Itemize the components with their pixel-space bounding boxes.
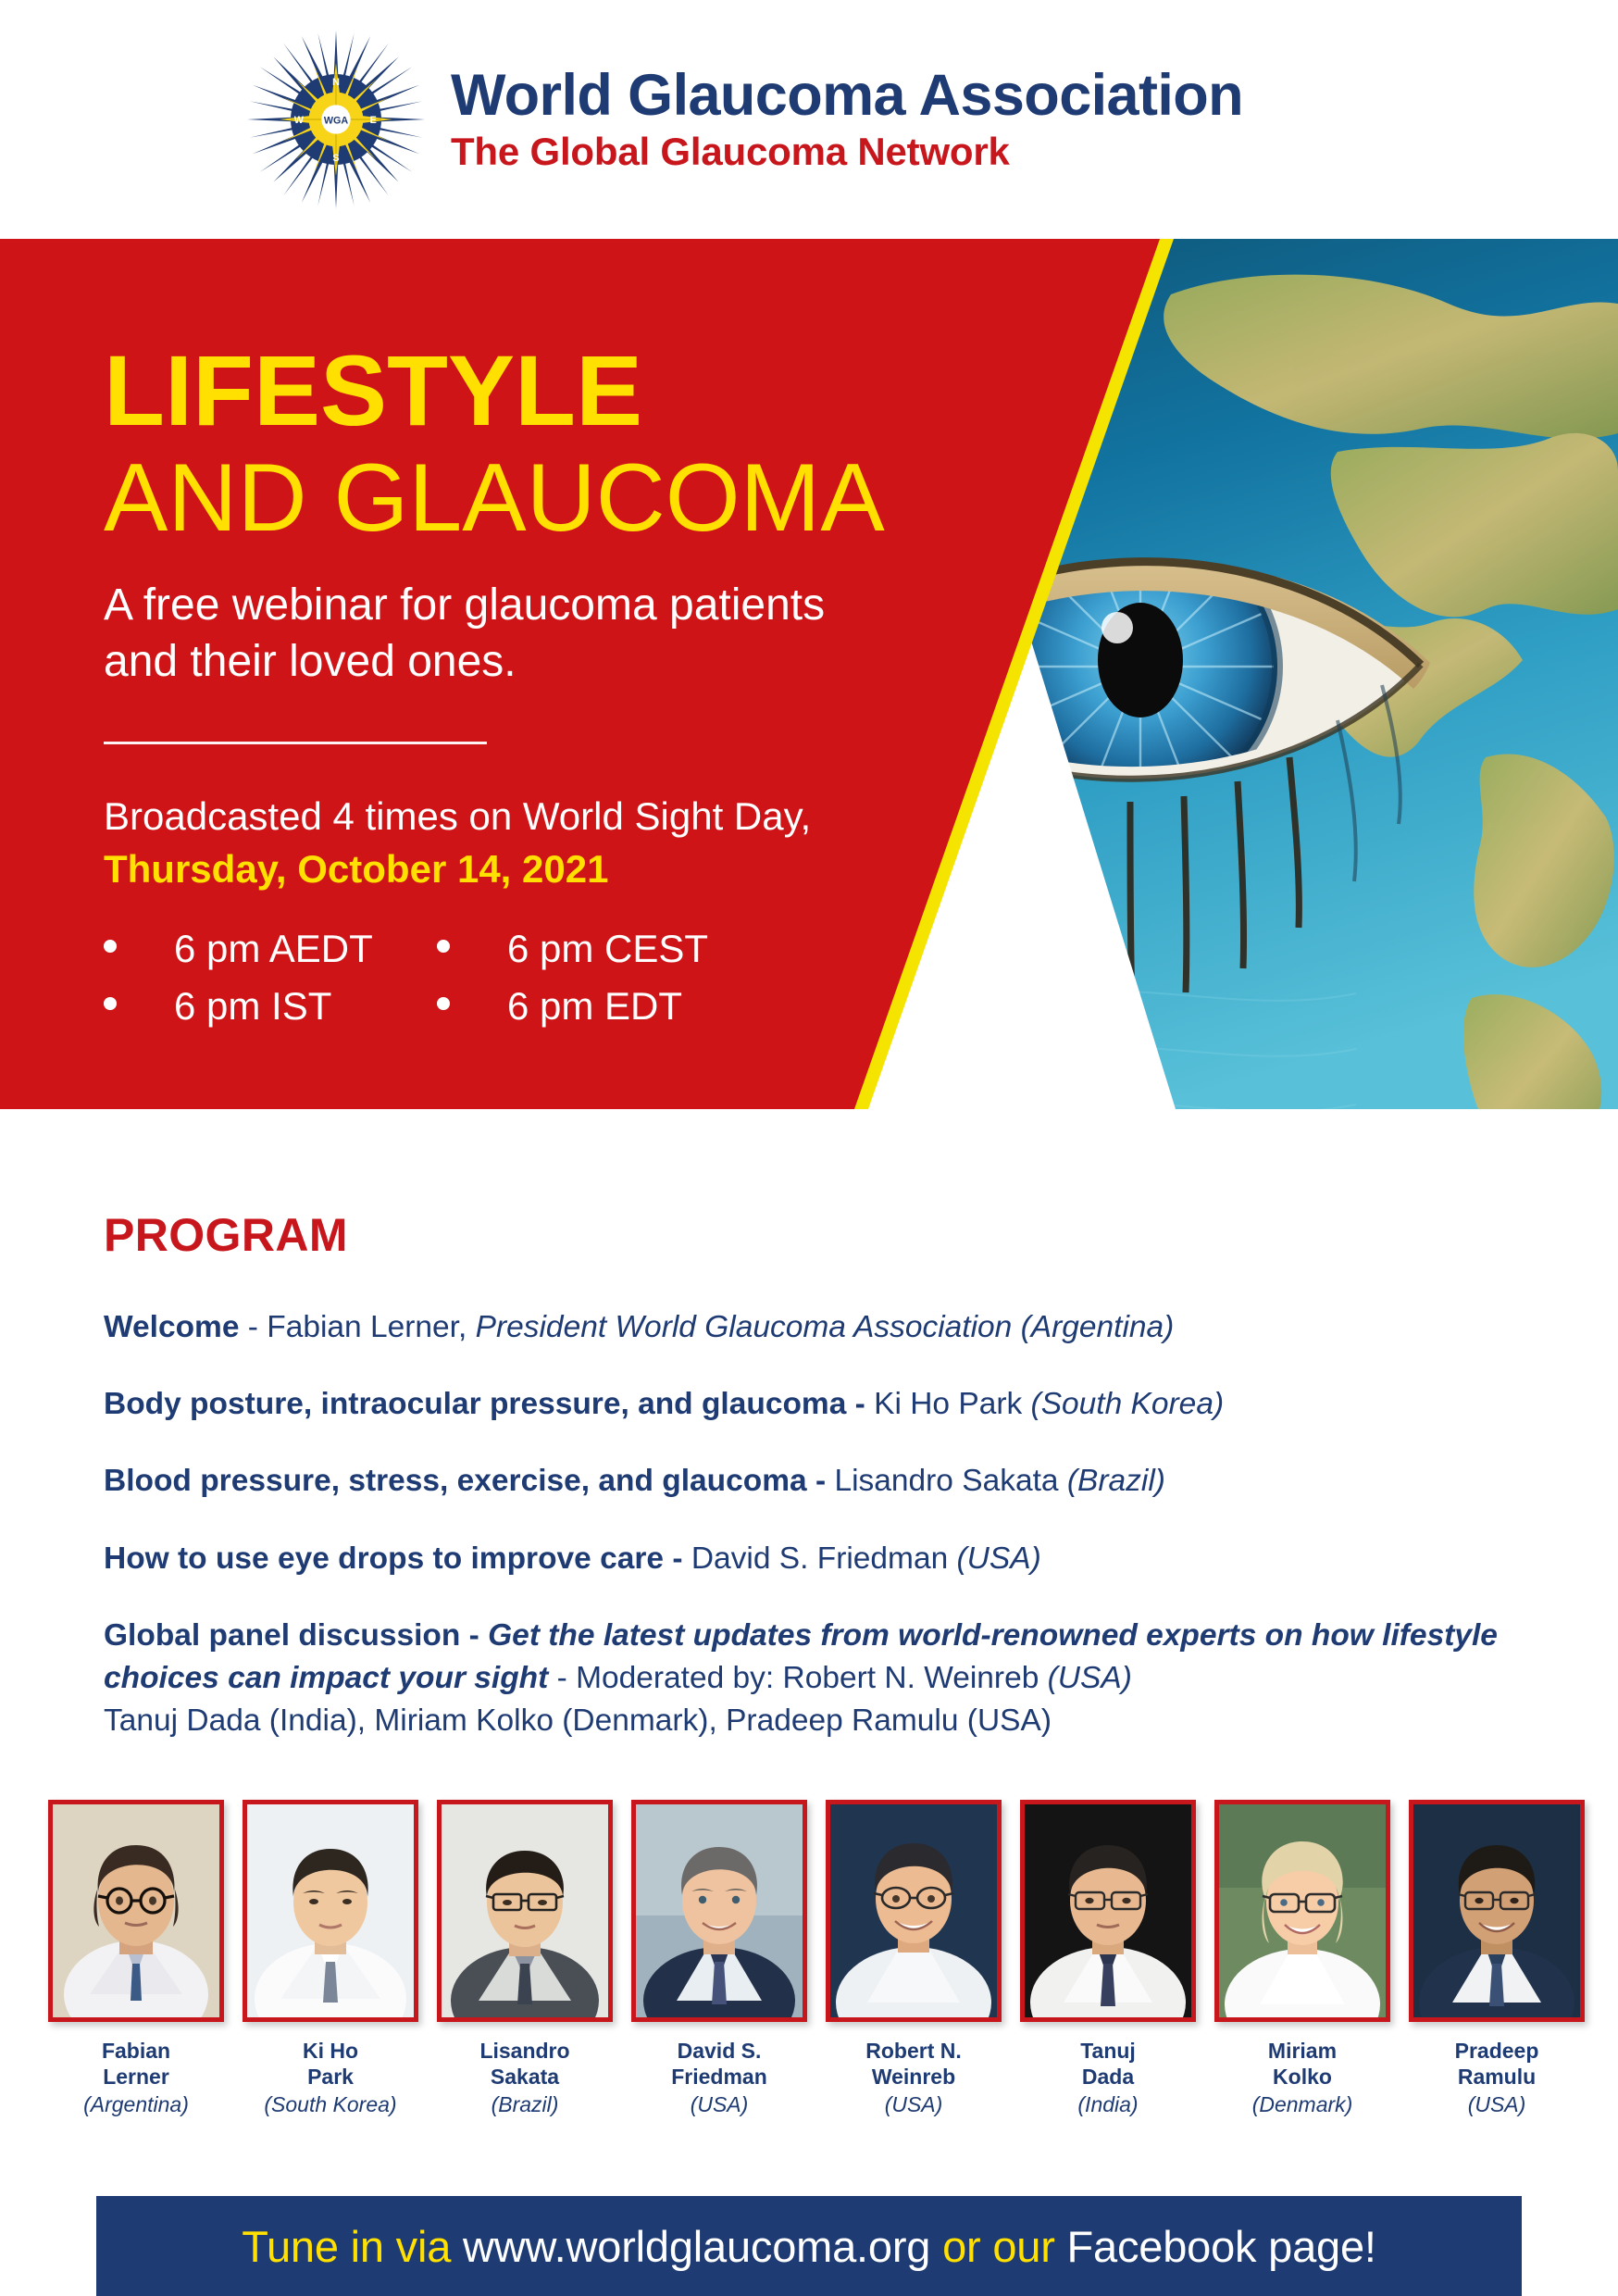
speaker-photo-frame [631, 1800, 807, 2022]
speaker-name-line2: Kolko [1273, 2065, 1332, 2089]
speaker-name: Miriam Kolko [1214, 2038, 1390, 2090]
portrait-pradeep-ramulu [1413, 1804, 1580, 2017]
program-item-topic: How to use eye drops to improve care [104, 1541, 664, 1576]
speaker-card: David S. Friedman (USA) [631, 1800, 807, 2119]
hero-subtitle: A free webinar for glaucoma patients and… [104, 578, 937, 690]
speaker-country: (USA) [826, 2091, 1002, 2119]
speaker-name: David S. Friedman [631, 2038, 807, 2090]
speaker-name: Ki Ho Park [243, 2038, 418, 2090]
speaker-name: Tanuj Dada [1020, 2038, 1196, 2090]
speaker-photo-frame [48, 1800, 224, 2022]
hero-title-line2: AND GLAUCOMA [104, 444, 937, 552]
speaker-name-line2: Weinreb [872, 2065, 955, 2089]
speaker-country: (Argentina) [48, 2091, 224, 2119]
speaker-card: Pradeep Ramulu (USA) [1409, 1800, 1585, 2119]
broadcast-date: Thursday, October 14, 2021 [104, 845, 937, 894]
broadcast-time-item: 6 pm IST [104, 984, 437, 1029]
speaker-card: Miriam Kolko (Denmark) [1214, 1800, 1390, 2119]
speaker-card: Tanuj Dada (India) [1020, 1800, 1196, 2119]
portrait-robert-weinreb [830, 1804, 997, 2017]
program-item-speaker: Fabian Lerner, [267, 1310, 467, 1344]
program-item-topic: Welcome [104, 1310, 239, 1344]
hero-divider [104, 742, 487, 744]
speaker-country: (India) [1020, 2091, 1196, 2119]
hero-subtitle-line1: A free webinar for glaucoma patients [104, 580, 825, 630]
program-item-speaker: Ki Ho Park [874, 1387, 1022, 1421]
program-item-role: President World Glaucoma Association (Ar… [476, 1310, 1175, 1344]
broadcast-time-label: 6 pm AEDT [174, 927, 373, 971]
program-item-speaker: David S. Friedman [691, 1541, 948, 1576]
portrait-tanuj-dada [1025, 1804, 1191, 2017]
speaker-name-line1: Lisandro [479, 2039, 569, 2063]
speaker-country: (South Korea) [243, 2091, 418, 2119]
speaker-photo-frame [826, 1800, 1002, 2022]
speaker-name: Fabian Lerner [48, 2038, 224, 2090]
portrait-ki-ho-park [247, 1804, 414, 2017]
speaker-name-line2: Friedman [671, 2065, 767, 2089]
speaker-name: Robert N. Weinreb [826, 2038, 1002, 2090]
page-footer: Tune in via www.worldglaucoma.org or our… [96, 2196, 1522, 2296]
speaker-country: (Denmark) [1214, 2091, 1390, 2119]
broadcast-time-item: 6 pm AEDT [104, 927, 437, 971]
program-item: Body posture, intraocular pressure, and … [104, 1383, 1548, 1426]
portrait-miriam-kolko [1219, 1804, 1386, 2017]
logo-center-label: WGA [324, 115, 349, 126]
panel-dash: - [460, 1618, 488, 1653]
broadcast-time-item: 6 pm CEST [437, 927, 770, 971]
footer-website-link[interactable]: www.worldglaucoma.org [463, 2222, 930, 2271]
organization-title: World Glaucoma Association [451, 66, 1243, 125]
speaker-card: Lisandro Sakata (Brazil) [437, 1800, 613, 2119]
bullet-icon [437, 997, 450, 1010]
speaker-photo-frame [437, 1800, 613, 2022]
speaker-name-line1: Miriam [1268, 2039, 1337, 2063]
compass-rose-icon: WGA N E S W [245, 29, 427, 210]
footer-tune-in-label: Tune in via [242, 2222, 463, 2271]
logo-east-label: E [370, 115, 377, 126]
speakers-gallery: Fabian Lerner (Argentina) [48, 1800, 1585, 2119]
program-item-topic: Blood pressure, stress, exercise, and gl… [104, 1464, 807, 1498]
broadcast-times-list: 6 pm AEDT 6 pm CEST 6 pm IST 6 pm EDT [104, 927, 937, 1029]
hero-content: LIFESTYLE AND GLAUCOMA A free webinar fo… [104, 239, 937, 1029]
program-items-list: Welcome - Fabian Lerner, President World… [104, 1306, 1548, 1743]
program-item-dash: - [239, 1310, 267, 1344]
panel-moderator: - Moderated by: Robert N. Weinreb [548, 1661, 1047, 1695]
speaker-name-line2: Ramulu [1458, 2065, 1536, 2089]
organization-subtitle: The Global Glaucoma Network [451, 131, 1243, 173]
portrait-david-friedman [636, 1804, 803, 2017]
poster-root: WGA N E S W World Glaucoma Association T… [0, 0, 1618, 2296]
program-item-dash: - [846, 1387, 874, 1421]
speaker-photo-frame [243, 1800, 418, 2022]
speaker-card: Fabian Lerner (Argentina) [48, 1800, 224, 2119]
program-item-dash: - [807, 1464, 835, 1498]
program-item-dash: - [664, 1541, 691, 1576]
speaker-country: (USA) [631, 2091, 807, 2119]
speaker-country: (USA) [1409, 2091, 1585, 2119]
program-item-speaker: Lisandro Sakata [834, 1464, 1058, 1498]
hero-subtitle-line2: and their loved ones. [104, 637, 517, 686]
program-item-panel: Global panel discussion - Get the latest… [104, 1615, 1548, 1743]
panel-moderator-country: (USA) [1048, 1661, 1132, 1695]
panel-panelists: Tanuj Dada (India), Miriam Kolko (Denmar… [104, 1703, 1052, 1738]
broadcast-time-label: 6 pm IST [174, 984, 331, 1029]
speaker-name-line2: Dada [1082, 2065, 1134, 2089]
page-header: WGA N E S W World Glaucoma Association T… [0, 0, 1618, 239]
broadcast-note: Broadcasted 4 times on World Sight Day, [104, 792, 937, 842]
speaker-name-line2: Lerner [103, 2065, 169, 2089]
logo-west-label: W [294, 115, 305, 126]
speaker-name-line2: Sakata [491, 2065, 559, 2089]
speaker-name-line1: Pradeep [1455, 2039, 1539, 2063]
speaker-name: Lisandro Sakata [437, 2038, 613, 2090]
program-item-role: (USA) [957, 1541, 1041, 1576]
logo-north-label: N [332, 77, 340, 88]
broadcast-time-label: 6 pm EDT [507, 984, 682, 1029]
speaker-name-line1: Tanuj [1080, 2039, 1136, 2063]
speaker-photo-frame [1214, 1800, 1390, 2022]
broadcast-time-label: 6 pm CEST [507, 927, 708, 971]
bullet-icon [437, 940, 450, 953]
speaker-photo-frame [1020, 1800, 1196, 2022]
hero-title-line1: LIFESTYLE [104, 341, 937, 441]
speaker-photo-frame [1409, 1800, 1585, 2022]
logo-south-label: S [332, 153, 339, 164]
speaker-name-line1: Ki Ho [303, 2039, 358, 2063]
program-section: PROGRAM Welcome - Fabian Lerner, Preside… [104, 1208, 1548, 1743]
footer-facebook-link[interactable]: Facebook page! [1067, 2222, 1376, 2271]
program-item: Welcome - Fabian Lerner, President World… [104, 1306, 1548, 1349]
program-item: Blood pressure, stress, exercise, and gl… [104, 1460, 1548, 1503]
portrait-fabian-lerner [53, 1804, 219, 2017]
panel-label: Global panel discussion [104, 1618, 460, 1653]
program-item-role: (Brazil) [1067, 1464, 1165, 1498]
program-item-role: (South Korea) [1031, 1387, 1225, 1421]
footer-or-our-label: or our [930, 2222, 1066, 2271]
speaker-name-line2: Park [307, 2065, 354, 2089]
broadcast-time-item: 6 pm EDT [437, 984, 770, 1029]
speaker-name-line1: David S. [678, 2039, 762, 2063]
speaker-name: Pradeep Ramulu [1409, 2038, 1585, 2090]
speaker-name-line1: Fabian [102, 2039, 170, 2063]
wga-logo: WGA N E S W [245, 29, 427, 210]
program-item: How to use eye drops to improve care - D… [104, 1538, 1548, 1580]
bullet-icon [104, 997, 117, 1010]
speaker-card: Ki Ho Park (South Korea) [243, 1800, 418, 2119]
footer-cta: Tune in via www.worldglaucoma.org or our… [242, 2221, 1376, 2272]
speaker-card: Robert N. Weinreb (USA) [826, 1800, 1002, 2119]
hero-section: LIFESTYLE AND GLAUCOMA A free webinar fo… [0, 239, 1618, 804]
speaker-name-line1: Robert N. [865, 2039, 962, 2063]
program-heading: PROGRAM [104, 1208, 1548, 1262]
bullet-icon [104, 940, 117, 953]
speaker-country: (Brazil) [437, 2091, 613, 2119]
portrait-lisandro-sakata [442, 1804, 608, 2017]
program-item-topic: Body posture, intraocular pressure, and … [104, 1387, 846, 1421]
